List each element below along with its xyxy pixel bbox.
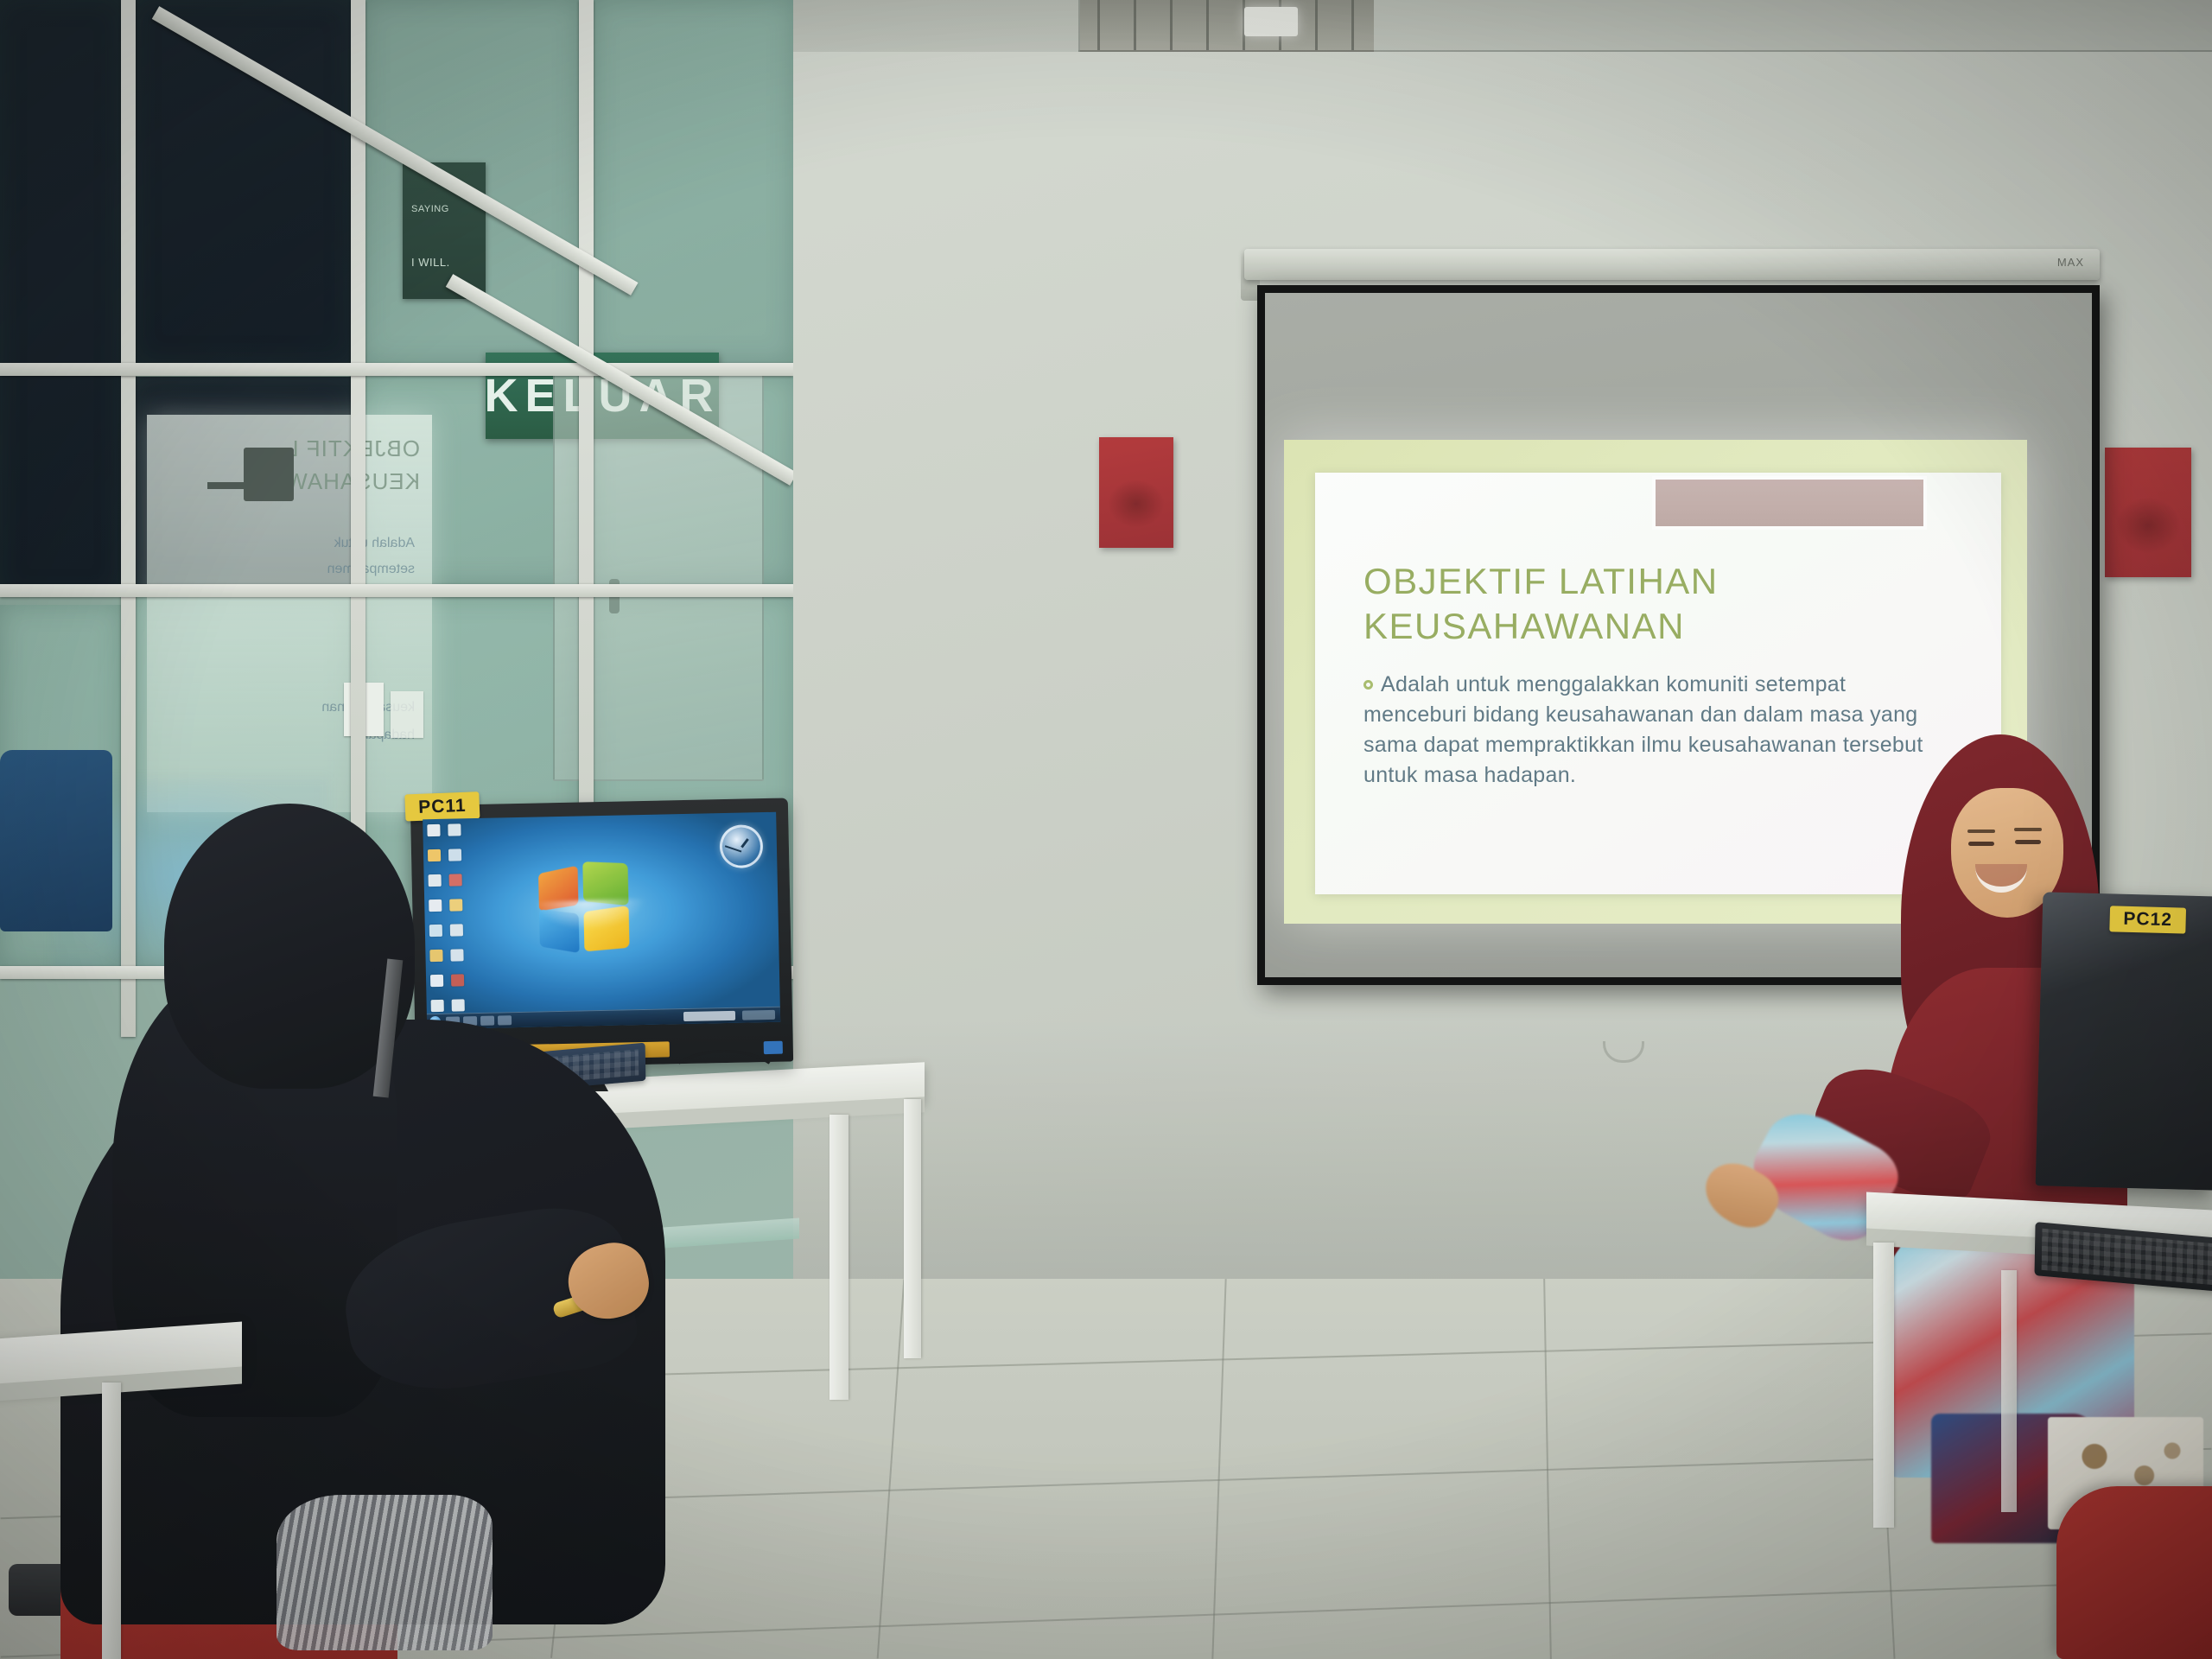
monitor-pc12: PC12 xyxy=(2036,892,2212,1190)
monitor-cable xyxy=(665,1050,783,1116)
system-tray[interactable] xyxy=(742,1010,775,1020)
photo-scene: SAYING I WILL. KELUAR OBJEKTIF L KEUSAHA… xyxy=(0,0,2212,1659)
pc-label-pc12: PC12 xyxy=(2109,906,2186,933)
slide-title-line-2: KEUSAHAWANAN xyxy=(1363,604,1899,649)
reflection-body-1: Adalah untuk xyxy=(334,536,415,551)
person-head xyxy=(164,804,415,1089)
red-poster-left xyxy=(1099,437,1173,548)
chair-right xyxy=(2056,1486,2212,1659)
eyebrow-left xyxy=(1967,829,1995,833)
clock-hour-hand xyxy=(741,839,749,849)
window-mullion xyxy=(0,584,793,597)
poster-text-block xyxy=(2115,497,2181,554)
desk-leg xyxy=(904,1099,921,1358)
patterned-garment xyxy=(276,1495,493,1650)
bullet-circle-icon xyxy=(1363,680,1373,690)
window-mullion xyxy=(0,363,793,376)
slide-title: OBJEKTIF LATIHAN KEUSAHAWANAN xyxy=(1363,559,1899,649)
eye-left xyxy=(1968,842,1994,846)
slide-header-tab xyxy=(1652,476,1927,530)
slide-bullet-item: Adalah untuk menggalakkan komuniti setem… xyxy=(1363,670,1934,791)
wall-notice-small xyxy=(391,691,423,738)
poster-line-2: I WILL. xyxy=(411,256,450,269)
clock-gadget[interactable] xyxy=(719,824,763,868)
desk-leg xyxy=(829,1115,849,1400)
glass-pane xyxy=(593,0,793,363)
clock-minute-hand xyxy=(725,845,742,852)
projector-screen-housing: MAX xyxy=(1244,249,2100,280)
red-poster-right xyxy=(2105,448,2191,577)
desk-leg xyxy=(102,1382,121,1659)
slide-title-line-1: OBJEKTIF LATIHAN xyxy=(1363,559,1899,604)
floor-tile-seam xyxy=(1211,1279,1226,1659)
reflection-body-2: setempat men xyxy=(327,562,415,577)
participant-seated xyxy=(60,804,683,1659)
poster-line-1: SAYING xyxy=(411,204,449,214)
wall-bracket xyxy=(244,448,294,501)
monitor-power-led[interactable] xyxy=(764,1041,783,1054)
desk-leg xyxy=(1873,1243,1894,1528)
slide-bullet-text: Adalah untuk menggalakkan komuniti setem… xyxy=(1363,672,1923,787)
glass-pane-dark xyxy=(0,0,121,596)
eyebrow-right xyxy=(2014,828,2042,831)
screen-brand-label: MAX xyxy=(2057,256,2084,269)
taskbar-window-button[interactable] xyxy=(683,1011,735,1021)
poster-text-block xyxy=(1108,480,1164,528)
floor-tile-seam xyxy=(877,1279,906,1658)
eye-right xyxy=(2015,840,2041,844)
desk-leg xyxy=(2001,1270,2017,1512)
ceiling-vent xyxy=(1080,0,1374,52)
ceiling-light xyxy=(1244,7,1298,36)
